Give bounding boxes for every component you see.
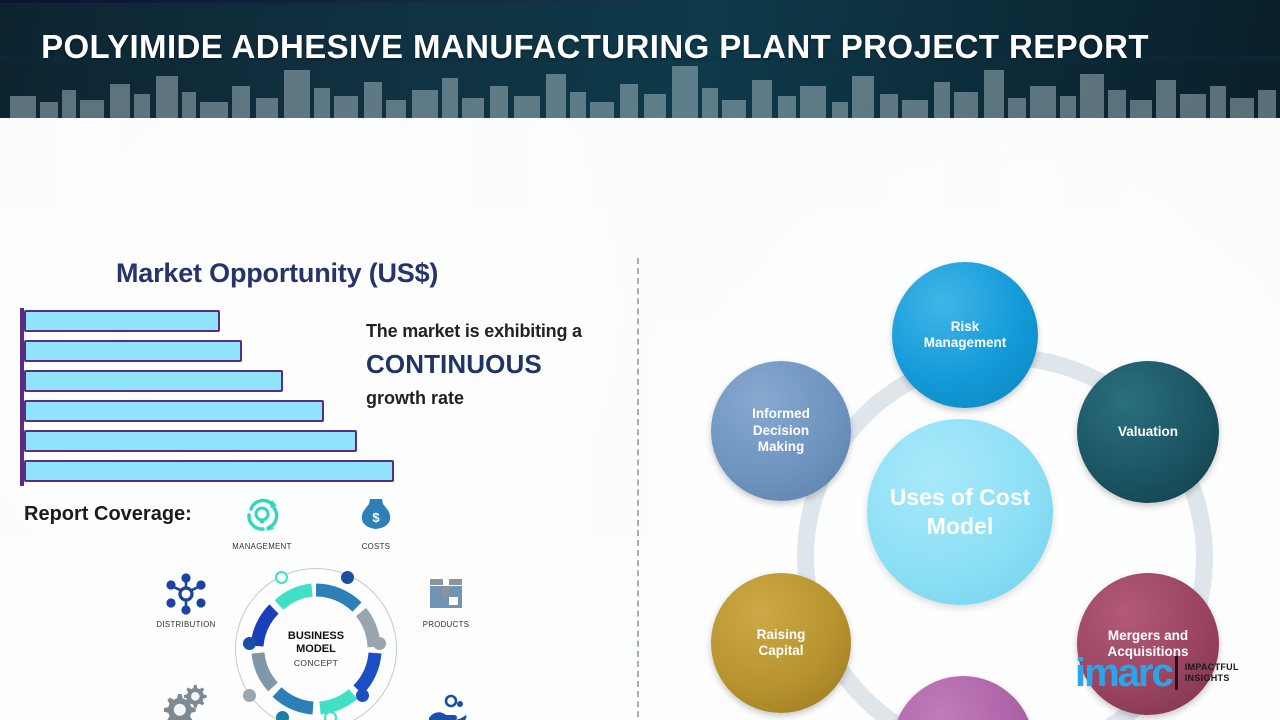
coverage-item-distribution: DISTRIBUTION [138,570,234,629]
package-box-icon [398,570,494,618]
bubble-line-1: Risk [918,319,1013,335]
network-nodes-icon [138,570,234,618]
tagline-line-2: INSIGHTS [1185,673,1239,684]
bubble-line-1: Valuation [1112,424,1184,440]
coverage-item-management: MANAGEMENT [214,492,310,551]
recycle-lightbulb-icon [214,492,310,540]
wheel-subtitle: CONCEPT [294,658,338,668]
wheel-title-line-1: BUSINESS [288,630,344,643]
report-coverage-label: Report Coverage: [24,503,192,526]
blurb-line-3: growth rate [366,388,636,409]
bubble-line-1: Raising [751,627,812,643]
wheel-node-top-right [341,571,354,584]
slide-body: Market Opportunity (US$) The market is e… [0,118,1280,720]
imarc-wordmark: imarc [1075,655,1172,691]
page-header: POLYIMIDE ADHESIVE MANUFACTURING PLANT P… [0,0,1280,118]
page-title: POLYIMIDE ADHESIVE MANUFACTURING PLANT P… [0,28,1190,66]
imarc-tagline: IMPACTFUL INSIGHTS [1185,662,1239,685]
chart-bar [24,370,283,392]
bubble-informed-decision-making[interactable]: Informed Decision Making [711,361,851,501]
bubble-valuation[interactable]: Valuation [1077,361,1219,503]
business-model-wheel: BUSINESS MODEL CONCEPT [235,568,397,720]
wheel-node-left [243,689,256,702]
coverage-label: PRODUCTS [398,620,494,629]
bubble-line-1: Mergers and [1101,628,1194,644]
gears-icon [138,678,234,720]
header-accent-line [0,0,640,3]
wheel-node-top-left [275,571,288,584]
blurb-line-2: CONTINUOUS [366,349,636,380]
center-bubble-uses-of-cost-model: Uses of Cost Model [867,419,1053,605]
chart-bar [24,400,324,422]
tagline-line-1: IMPACTFUL [1185,662,1239,673]
bubble-line-3: Making [746,439,816,455]
wheel-title-line-2: MODEL [296,643,336,656]
coverage-item-revenue: REVENUE [398,688,494,720]
chart-bar [24,460,394,482]
panel-divider [637,258,639,720]
wheel-node-right [373,637,386,650]
coverage-label: COSTS [328,542,424,551]
svg-text:$: $ [372,510,380,525]
bubble-risk-management[interactable]: Risk Management [892,262,1038,408]
wheel-center-label: BUSINESS MODEL CONCEPT [266,599,366,699]
wheel-node-bottom-right2 [324,711,337,720]
hand-coins-icon [398,688,494,720]
coverage-item-products: PRODUCTS [398,570,494,629]
market-opportunity-chart [20,308,410,486]
imarc-logo: imarc IMPACTFUL INSIGHTS [1075,655,1239,691]
chart-bar [24,430,357,452]
bubble-line-2: Decision [746,423,816,439]
blurb-line-1: The market is exhibiting a [366,321,636,342]
coverage-item-costs: $ COSTS [328,492,424,551]
bubble-line-2: Management [918,335,1013,351]
chart-bar [24,310,220,332]
wheel-node-left2 [243,637,256,650]
coverage-item-services: SERVICES [138,678,234,720]
wheel-node-bottom-left [276,711,289,720]
chart-bar [24,340,242,362]
center-bubble-line-1: Uses of [890,484,973,510]
growth-blurb: The market is exhibiting a CONTINUOUS gr… [366,321,636,409]
wheel-node-bottom-right [356,689,369,702]
uses-of-cost-model-diagram: Uses of Cost Model Risk Management Valua… [640,236,1280,720]
bubble-line-1: Informed [746,406,816,422]
market-opportunity-title: Market Opportunity (US$) [116,258,438,289]
coverage-label: DISTRIBUTION [138,620,234,629]
coverage-label: MANAGEMENT [214,542,310,551]
bubble-line-2: Capital [751,643,812,659]
bubble-raising-capital[interactable]: Raising Capital [711,573,851,713]
chart-axis [20,308,24,486]
logo-divider [1175,656,1178,690]
money-bag-icon: $ [328,492,424,540]
